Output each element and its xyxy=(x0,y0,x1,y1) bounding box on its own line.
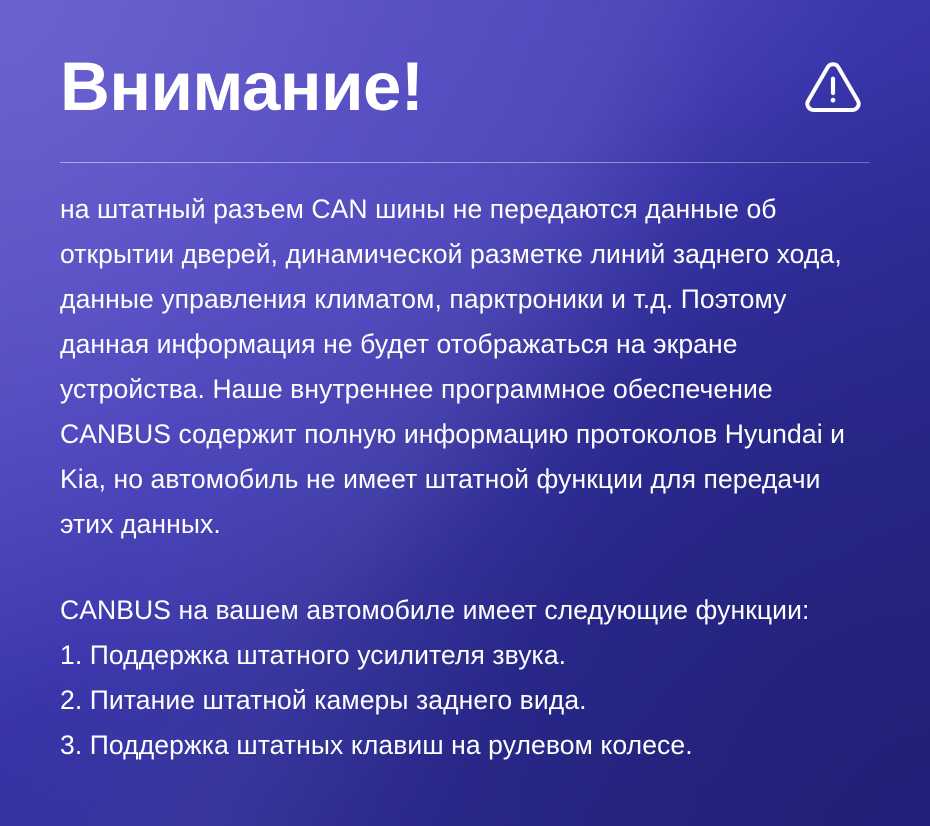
list-item: 3. Поддержка штатных клавиш на рулевом к… xyxy=(60,723,870,768)
list-item: 1. Поддержка штатного усилителя звука. xyxy=(60,633,870,678)
warning-paragraph: на штатный разъем CAN шины не передаются… xyxy=(60,163,870,547)
list-item: 2. Питание штатной камеры заднего вида. xyxy=(60,678,870,723)
features-section: CANBUS на вашем автомобиле имеет следующ… xyxy=(60,547,870,768)
banner-header: Внимание! xyxy=(60,0,870,121)
banner-content: Внимание! на штатный разъем CAN шины не … xyxy=(0,0,930,768)
page-title: Внимание! xyxy=(60,52,423,121)
features-intro: CANBUS на вашем автомобиле имеет следующ… xyxy=(60,588,870,633)
warning-banner: Внимание! на штатный разъем CAN шины не … xyxy=(0,0,930,826)
feature-list: 1. Поддержка штатного усилителя звука. 2… xyxy=(60,633,870,768)
warning-triangle-icon xyxy=(802,56,864,118)
